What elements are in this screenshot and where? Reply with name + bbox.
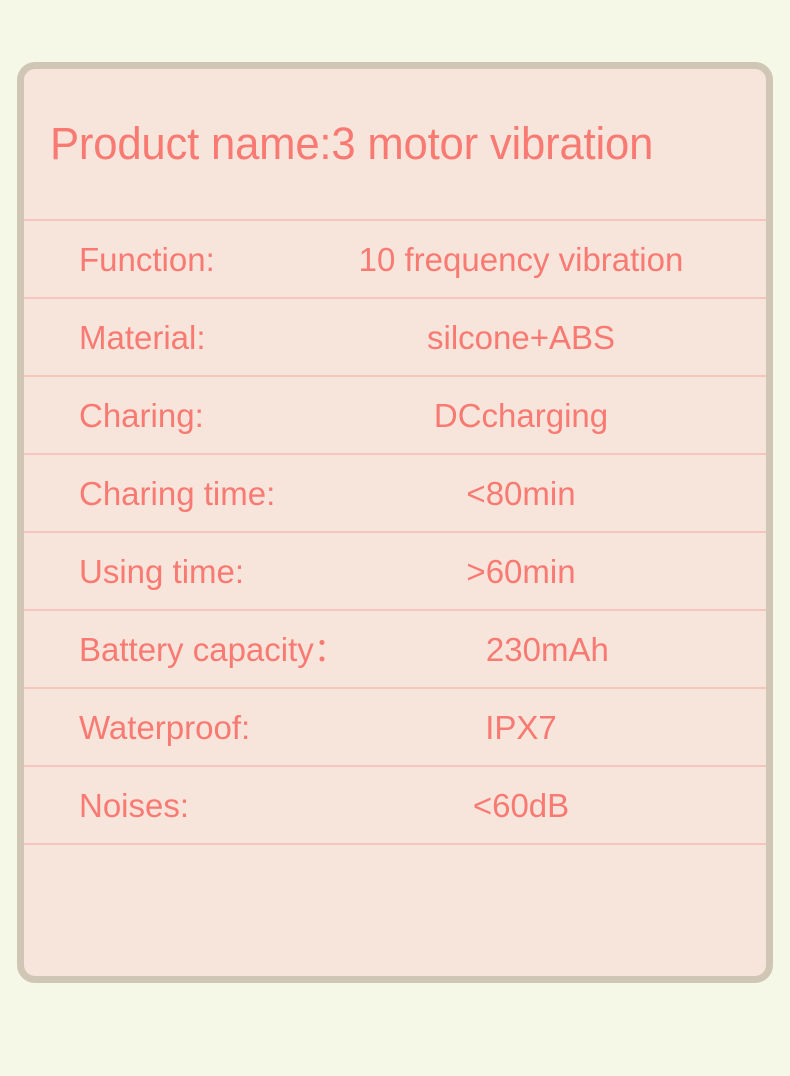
spec-value-charing: DCcharging xyxy=(294,399,766,432)
table-row: Waterproof: IPX7 xyxy=(24,689,766,767)
spec-value-using-time: >60min xyxy=(294,555,766,588)
table-row: Function: 10 frequency vibration xyxy=(24,221,766,299)
table-row: Noises: <60dB xyxy=(24,767,766,845)
spec-label-charing: Charing: xyxy=(24,399,294,432)
spec-label-battery-capacity: Battery capacity： xyxy=(24,633,347,666)
spec-value-charing-time: <80min xyxy=(294,477,766,510)
table-row: Battery capacity： 230mAh xyxy=(24,611,766,689)
table-row: Charing time: <80min xyxy=(24,455,766,533)
table-row: Charing: DCcharging xyxy=(24,377,766,455)
spec-value-battery-capacity: 230mAh xyxy=(347,633,766,666)
product-spec-card: Product name:3 motor vibration Function:… xyxy=(17,62,773,983)
spec-value-material: silcone+ABS xyxy=(294,321,766,354)
spec-label-function: Function: xyxy=(24,243,294,276)
spec-label-noises: Noises: xyxy=(24,789,294,822)
spec-value-function: 10 frequency vibration xyxy=(294,243,766,276)
spec-value-noises: <60dB xyxy=(294,789,766,822)
spec-value-waterproof: IPX7 xyxy=(294,711,766,744)
spec-label-using-time: Using time: xyxy=(24,555,294,588)
table-row: Using time: >60min xyxy=(24,533,766,611)
table-row: Material: silcone+ABS xyxy=(24,299,766,377)
card-title-row: Product name:3 motor vibration xyxy=(24,69,766,221)
spec-label-material: Material: xyxy=(24,321,294,354)
spec-label-waterproof: Waterproof: xyxy=(24,711,294,744)
spec-label-charing-time: Charing time: xyxy=(24,477,294,510)
table-row-empty xyxy=(24,845,766,973)
page-title: Product name:3 motor vibration xyxy=(50,120,653,167)
